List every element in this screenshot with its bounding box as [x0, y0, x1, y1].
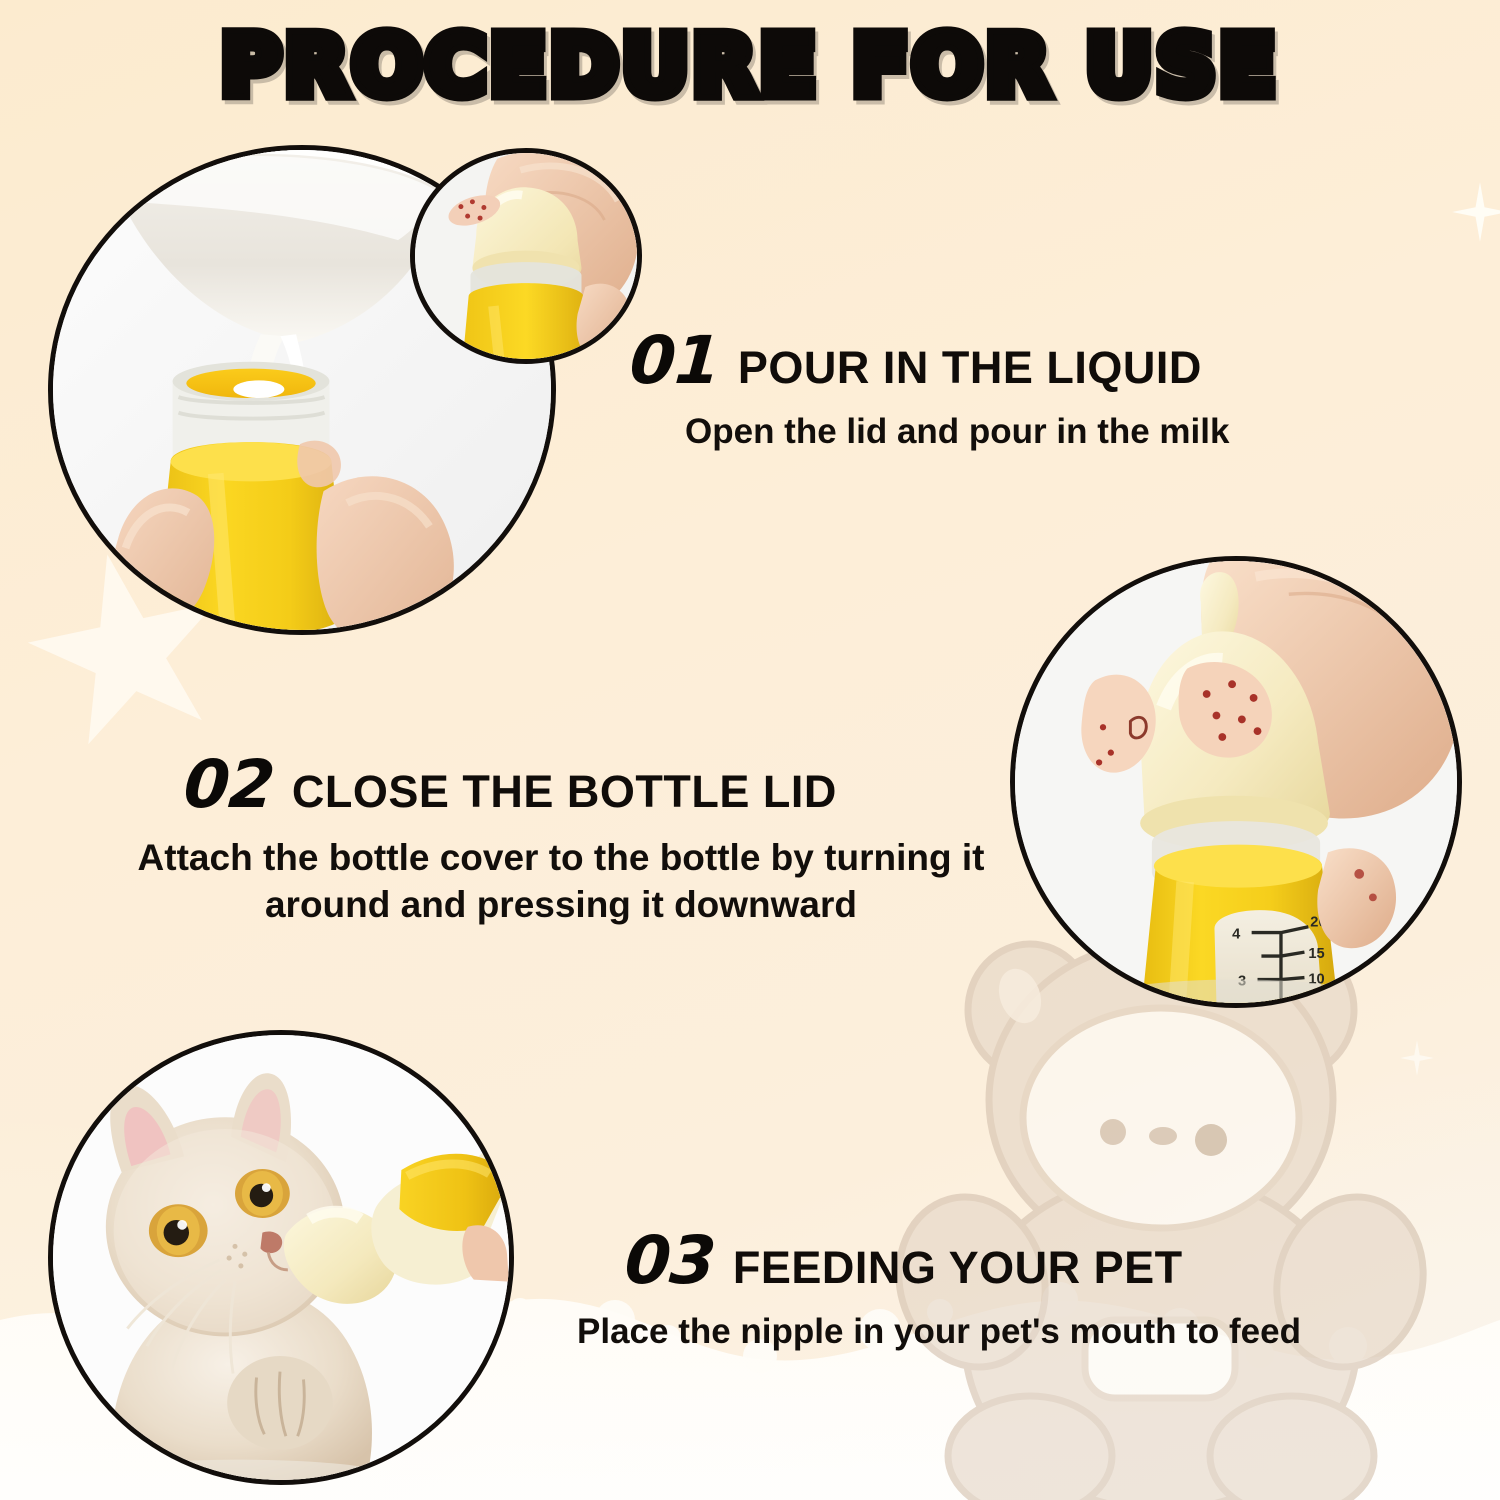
step-02: 02 CLOSE THE BOTTLE LID Attach the bottl…: [96, 752, 1026, 929]
step-02-description-line-2: around and pressing it downward: [96, 881, 1026, 928]
step-01-title: POUR IN THE LIQUID: [738, 345, 1202, 390]
step-02-description: Attach the bottle cover to the bottle by…: [96, 834, 1026, 929]
sparkle-shape: [1452, 182, 1500, 242]
photo-pressing-cap-onto-bottle: 4 3 20 ml 15 10: [1010, 556, 1462, 1008]
step-01-description: Open the lid and pour in the milk: [685, 410, 1229, 455]
sparkle-shape-small: [1400, 1040, 1434, 1076]
step-01: 01 POUR IN THE LIQUID Open the lid and p…: [630, 328, 1229, 455]
step-03-heading: 03 FEEDING YOUR PET: [625, 1228, 1301, 1294]
step-03-description: Place the nipple in your pet's mouth to …: [577, 1310, 1301, 1355]
svg-text:15: 15: [1308, 946, 1324, 962]
step-03-number: 03: [623, 1228, 717, 1294]
photo-kitten-art: [53, 1035, 509, 1480]
infographic-canvas: PROCEDURE FOR USE: [0, 0, 1500, 1500]
page-title-text: PROCEDURE FOR USE: [221, 26, 1280, 108]
step-01-heading: 01 POUR IN THE LIQUID: [630, 328, 1229, 394]
photo-nipple-cap-art: [415, 153, 637, 360]
step-02-number: 02: [182, 752, 276, 818]
photo-kitten-drinking-from-bottle: [48, 1030, 514, 1485]
step-02-title: CLOSE THE BOTTLE LID: [292, 769, 837, 814]
step-02-description-line-1: Attach the bottle cover to the bottle by…: [96, 834, 1026, 881]
photo-hand-holding-nipple-cap: [410, 148, 642, 364]
step-02-heading: 02 CLOSE THE BOTTLE LID: [96, 752, 1026, 818]
page-title: PROCEDURE FOR USE: [0, 26, 1500, 108]
step-01-number: 01: [628, 328, 722, 394]
step-03-title: FEEDING YOUR PET: [733, 1245, 1183, 1290]
svg-text:4: 4: [1232, 926, 1241, 942]
photo-pressing-cap-art: 4 3 20 ml 15 10: [1015, 561, 1457, 1003]
step-03: 03 FEEDING YOUR PET Place the nipple in …: [625, 1228, 1301, 1355]
